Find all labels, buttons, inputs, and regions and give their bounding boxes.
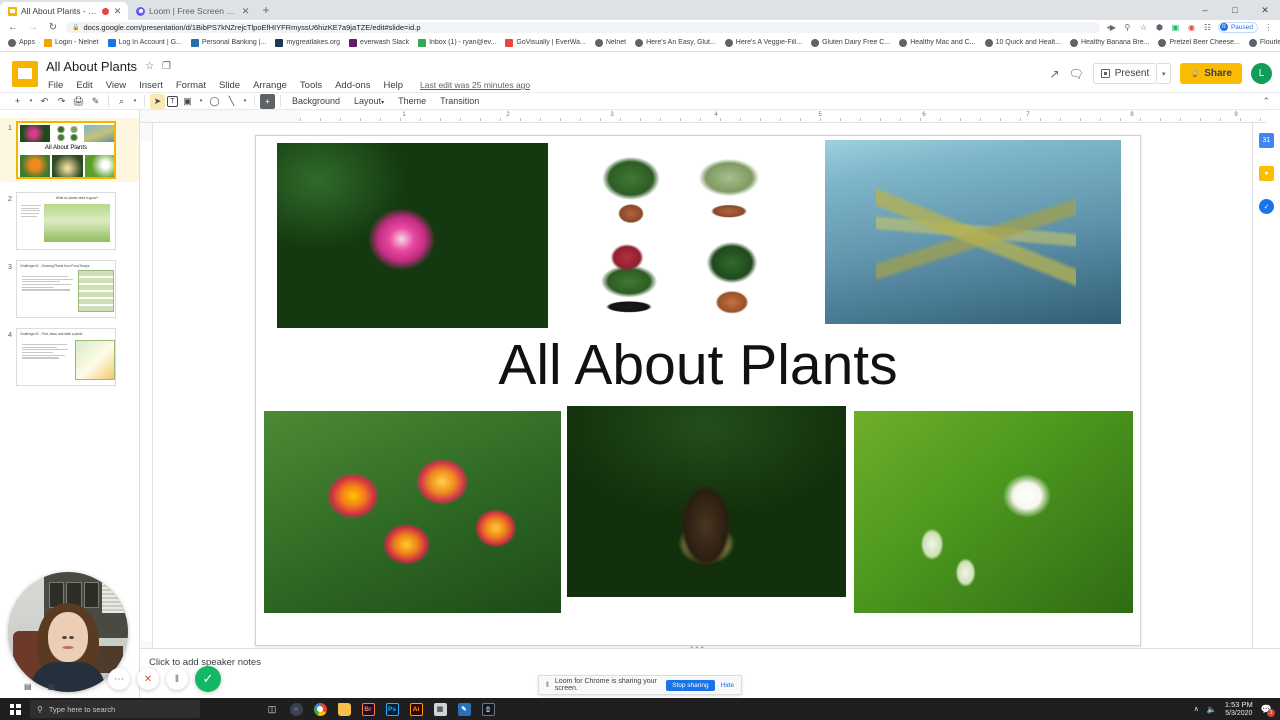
avatar[interactable]: L — [1251, 63, 1272, 84]
taskbar-search-input[interactable]: ⚲ Type here to search — [30, 700, 200, 718]
bookmark-item[interactable]: Healthy Banana Bre... — [1066, 37, 1154, 49]
bookmark-label: 10 Quick and Healt... — [996, 39, 1061, 46]
ruler-tick — [880, 118, 881, 121]
bookmark-label: Flourless Peanut Bu... — [1260, 39, 1280, 46]
grammarly-icon[interactable]: ◉ — [1186, 23, 1197, 32]
start-button[interactable] — [2, 698, 28, 720]
toolbar-divider — [144, 95, 145, 107]
browser-tab-loom[interactable]: Loom | Free Screen & Video Rec ✕ — [128, 2, 256, 20]
grid-icon[interactable]: ▦ — [48, 682, 56, 691]
ruler-tick — [920, 118, 921, 121]
bank-icon — [108, 39, 116, 47]
editor-canvas-area: 123456789 — [140, 110, 1280, 698]
document-title-row: All About Plants ☆ ❐ — [46, 57, 1049, 76]
text-line — [22, 284, 71, 285]
address-bar[interactable]: 🔒 docs.google.com/presentation/d/1BibPS7… — [66, 22, 1100, 33]
bookmark-item[interactable]: Log In Account | G... — [104, 37, 186, 49]
browser-tabstrip: All About Plants - Google Sl ✕ Loom | Fr… — [0, 0, 1280, 20]
ruler-tick — [1060, 118, 1061, 121]
file-explorer-icon[interactable] — [332, 698, 356, 720]
theme-button[interactable]: Theme — [392, 96, 432, 106]
menu-tools[interactable]: Tools — [298, 79, 324, 92]
ruler-mark: 4 — [714, 112, 717, 118]
select-tool-icon[interactable]: ➤ — [150, 94, 165, 109]
bookmark-label: Apps — [19, 39, 35, 46]
thumbnail-content: What do plants need to grow? — [20, 196, 112, 246]
blossom-thumb-icon — [85, 155, 115, 177]
adobe-bridge-icon[interactable]: Br — [356, 698, 380, 720]
menu-view[interactable]: View — [104, 79, 128, 92]
pink-desert-rose-flower-image[interactable] — [277, 143, 548, 328]
bookmark-label: mygreatlakes.org — [286, 39, 340, 46]
pink-flower-thumb-icon — [20, 125, 50, 142]
comment-icon[interactable]: 🗨 — [1069, 67, 1084, 81]
seedlings-thumb-icon — [44, 204, 110, 242]
lock-icon: 🔒 — [72, 24, 79, 31]
plant-dot-icon — [69, 126, 79, 133]
minimize-button[interactable]: – — [1190, 0, 1220, 20]
houseplant-pot-4-icon — [684, 230, 780, 316]
ruler-tick — [500, 118, 501, 121]
finish-recording-button[interactable]: ✓ — [195, 666, 221, 692]
bookmark-label: Personal Banking |... — [202, 39, 266, 46]
eye-right — [69, 636, 74, 639]
text-line — [22, 347, 57, 348]
browser-toolbar: ← → ↻ 🔒 docs.google.com/presentation/d/1… — [0, 20, 1280, 34]
reload-icon[interactable]: ↻ — [46, 22, 60, 33]
recording-dot-icon — [102, 8, 109, 15]
tab-close-icon[interactable]: ✕ — [113, 7, 122, 16]
notification-center-icon[interactable]: 💬 1 — [1261, 704, 1272, 715]
undo-icon[interactable]: ↶ — [37, 94, 52, 109]
new-tab-button[interactable]: + — [256, 2, 276, 20]
text-line — [22, 352, 53, 353]
text-line — [21, 213, 39, 214]
menu-bar: FileEditViewInsertFormatSlideArrangeTool… — [46, 77, 1049, 93]
extension-paused-badge[interactable]: R Paused — [1218, 22, 1258, 33]
notification-count-badge: 1 — [1267, 709, 1275, 717]
greatlakes-icon — [275, 39, 283, 47]
google-apps-side-rail: 31 ● ✓ — [1252, 123, 1280, 698]
bookmark-label: GoVisually | EverWa... — [516, 39, 586, 46]
globe-icon — [635, 39, 643, 47]
screen: All About Plants - Google Sl ✕ Loom | Fr… — [0, 0, 1280, 720]
ruler-tick — [320, 118, 321, 121]
text-line — [22, 279, 73, 280]
text-line — [22, 289, 70, 290]
bookmark-item[interactable]: Here's A Veggie-Fill... — [721, 37, 806, 49]
layout-icon[interactable]: ▤ — [24, 682, 32, 691]
ruler-tick — [340, 118, 341, 121]
screen-sharing-bar: ‖ Loom for Chrome is sharing your screen… — [538, 675, 742, 695]
google-calendar-icon[interactable]: 31 — [1259, 133, 1274, 148]
windows-logo-icon — [10, 704, 21, 715]
ruler-tick — [720, 118, 721, 121]
google-tasks-icon[interactable]: ✓ — [1259, 199, 1274, 214]
ruler-tick — [1120, 118, 1121, 121]
thumbnail-number: 4 — [2, 328, 16, 339]
loom-extension-icon[interactable]: ▣ — [1170, 23, 1181, 32]
bookmark-item[interactable]: Here's An Easy, Glut... — [631, 37, 720, 49]
bookmark-item[interactable]: Pretzel Beer Cheese... — [1154, 37, 1243, 49]
plant-dot-icon — [56, 134, 66, 141]
white-cherry-blossom-image[interactable] — [854, 411, 1133, 613]
speaker-notes-placeholder: Click to add speaker notes — [149, 657, 1280, 668]
chrome-menu-icon[interactable]: ⋮ — [1263, 23, 1274, 32]
activity-dashboard-icon[interactable]: ↗ — [1049, 67, 1059, 81]
cancel-recording-button[interactable]: ✕ — [137, 668, 159, 690]
toolbar-divider — [108, 95, 109, 107]
nelnet-icon — [44, 39, 52, 47]
document-title[interactable]: All About Plants — [46, 59, 137, 74]
star-icon[interactable]: ☆ — [145, 61, 154, 72]
present-dropdown-caret[interactable]: ▾ — [1157, 63, 1171, 84]
bookmarks-bar: AppsLogin - NelnetLog In Account | G...P… — [0, 34, 1280, 52]
chrome-icon[interactable] — [308, 698, 332, 720]
lock-icon: 🔒 — [1190, 69, 1200, 78]
text-line — [22, 344, 67, 345]
menu-edit[interactable]: Edit — [74, 79, 94, 92]
chrome-glyph-icon — [314, 703, 327, 716]
bookmark-label: Healthy Banana Bre... — [1081, 39, 1150, 46]
ruler-tick — [540, 118, 541, 121]
present-label: Present — [1115, 68, 1149, 79]
tab-close-icon[interactable]: ✕ — [241, 7, 250, 16]
kelp-frond-icon — [876, 156, 1076, 316]
ruler-tick — [980, 118, 981, 121]
ruler-mark: 2 — [506, 112, 509, 118]
kelp-thumb-icon — [84, 125, 115, 142]
bookmark-label: Healthy Mac and C... — [910, 39, 975, 46]
paint-format-icon[interactable]: ✎ — [88, 94, 103, 109]
more-options-button[interactable]: ⋯ — [108, 668, 130, 690]
ruler-mark: 7 — [1026, 112, 1029, 118]
windows-taskbar: ⚲ Type here to search ◫ ○ Br Ps Ai ▤ ✎ ▯… — [0, 698, 1280, 720]
address-bar-url: docs.google.com/presentation/d/1BibPS7kN… — [83, 23, 420, 32]
move-to-folder-icon[interactable]: ❐ — [162, 61, 171, 72]
layout-caret-icon: ▾ — [381, 100, 384, 106]
thumbnail-content: Challenge #2 - Find, draw, and label a p… — [20, 332, 112, 382]
thumbnail-title: All About Plants — [18, 145, 114, 151]
text-line — [22, 357, 59, 358]
ruler-tick — [940, 118, 941, 121]
task-view-icon[interactable]: ◫ — [260, 698, 284, 720]
thumbnail-canvas: All About Plants — [16, 121, 116, 179]
loom-mini-icons: ▤ ▦ — [24, 682, 55, 691]
google-keep-icon[interactable]: ● — [1259, 166, 1274, 181]
video-camera-icon[interactable]: ▪▶ — [1106, 23, 1117, 32]
ruler-tick — [700, 118, 701, 121]
thumbnail-number: 1 — [2, 121, 16, 132]
add-comment-icon[interactable]: + — [260, 94, 275, 109]
thumbnail-slide-1[interactable]: 1 All About Plants — [0, 118, 139, 182]
ruler-tick — [420, 118, 421, 121]
menu-add-ons[interactable]: Add-ons — [333, 79, 372, 92]
bookmark-label: Pretzel Beer Cheese... — [1169, 39, 1239, 46]
text-line — [22, 349, 68, 350]
tree-thumb-icon — [52, 155, 83, 177]
layout-label: Layout — [354, 96, 381, 106]
thumbnail-canvas: Challenge #1 - Growing Plants from Food … — [16, 260, 116, 318]
ruler-tick — [840, 118, 841, 121]
window-controls: – □ ✕ — [1190, 0, 1280, 20]
mouth — [63, 646, 74, 649]
loom-recording-controls: ⋯ ✕ ‖ ✓ — [108, 666, 221, 692]
houseplant-pot-3-icon — [581, 232, 677, 317]
present-icon — [1101, 69, 1110, 78]
food-scraps-chart-icon — [78, 270, 114, 312]
ruler-tick — [1020, 118, 1021, 121]
extension-avatar: R — [1220, 23, 1228, 31]
ruler-mark: 1 — [402, 112, 405, 118]
text-line — [22, 355, 65, 356]
globe-icon — [1158, 39, 1166, 47]
houseplant-pot-2-icon — [681, 144, 781, 224]
share-label: Share — [1204, 68, 1232, 79]
search-placeholder: Type here to search — [49, 705, 115, 714]
orange-alstroemeria-flowers-image[interactable] — [264, 411, 561, 613]
thumbnail-bullets — [21, 205, 41, 218]
thumbnail-canvas: What do plants need to grow? — [16, 192, 116, 250]
transition-button[interactable]: Transition — [434, 96, 485, 106]
ruler-tick — [300, 118, 301, 121]
ruler-tick — [660, 118, 661, 121]
menu-help[interactable]: Help — [381, 79, 405, 92]
menu-format[interactable]: Format — [174, 79, 208, 92]
thumbnail-number: 3 — [2, 260, 16, 271]
apps-grid-icon — [8, 39, 16, 47]
bookmark-label: Nelnet — [606, 39, 626, 46]
ruler-tick — [360, 118, 361, 121]
taskbar-clock[interactable]: 1:53 PM 5/3/2020 — [1225, 700, 1253, 718]
textbox-icon[interactable]: T — [167, 96, 178, 107]
paint-icon[interactable]: ✎ — [452, 698, 476, 720]
thumbnail-content: All About Plants — [18, 123, 114, 177]
line-caret-icon[interactable]: ▾ — [241, 98, 249, 104]
camera-glyph-icon: ▯ — [482, 703, 495, 716]
back-icon[interactable]: ← — [6, 22, 20, 33]
ruler-track — [141, 141, 152, 641]
bookmark-item[interactable]: mygreatlakes.org — [271, 37, 344, 49]
bookmark-label: Login - Nelnet — [55, 39, 99, 46]
redo-icon[interactable]: ↷ — [54, 94, 69, 109]
background-button[interactable]: Background — [286, 96, 346, 106]
globe-icon — [899, 39, 907, 47]
thumbnail-slide-3[interactable]: 3 Challenge #1 - Growing Plants from Foo… — [0, 260, 139, 318]
bookmark-label: everwash Slack — [360, 39, 409, 46]
present-button[interactable]: Present — [1093, 63, 1157, 84]
thumbnail-slide-2[interactable]: 2 What do plants need to grow? — [0, 192, 139, 250]
cortana-icon[interactable]: ○ — [284, 698, 308, 720]
extension-paused-label: Paused — [1231, 24, 1253, 31]
globe-icon — [725, 39, 733, 47]
image-caret-icon[interactable]: ▾ — [197, 98, 205, 104]
bookmark-item[interactable]: GoVisually | EverWa... — [501, 37, 590, 49]
text-line — [22, 281, 60, 282]
clock-date: 5/3/2020 — [1225, 709, 1253, 718]
forward-icon[interactable]: → — [26, 22, 40, 33]
toolbar-divider — [254, 95, 255, 107]
last-edit-label[interactable]: Last edit was 25 minutes ago — [420, 80, 530, 90]
sharing-message: Loom for Chrome is sharing your screen. — [555, 678, 660, 692]
pause-icon: ‖ — [546, 682, 549, 689]
maximize-button[interactable]: □ — [1220, 0, 1250, 20]
toolbar-divider — [280, 95, 281, 107]
bookmark-item[interactable]: 10 Quick and Healt... — [981, 37, 1065, 49]
tray-expand-icon[interactable]: ∧ — [1194, 705, 1199, 713]
tab-title: All About Plants - Google Sl — [21, 6, 98, 16]
text-line — [21, 205, 41, 206]
line-icon[interactable]: ╲ — [224, 94, 239, 109]
ruler-tick — [960, 118, 961, 121]
ruler-tick — [640, 118, 641, 121]
share-button[interactable]: 🔒 Share — [1180, 63, 1242, 84]
insert-image-icon[interactable]: ▣ — [180, 94, 195, 109]
plant-dot-icon — [69, 134, 79, 141]
thumbnail-heading: Challenge #2 - Find, draw, and label a p… — [20, 332, 112, 336]
bookmark-label: Here's A Veggie-Fill... — [736, 39, 802, 46]
apps-grid-icon[interactable]: ☷ — [1202, 23, 1213, 32]
google-slides-app: All About Plants ☆ ❐ FileEditViewInsertF… — [0, 52, 1280, 698]
ruler-mark: 9 — [1234, 112, 1237, 118]
ruler-tick — [480, 118, 481, 121]
folder-glyph-icon — [338, 703, 351, 716]
text-line — [22, 276, 68, 277]
orange-flowers-thumb-icon — [20, 155, 50, 177]
person-face — [48, 612, 88, 662]
volume-icon[interactable]: 🔈 — [1207, 705, 1217, 714]
globe-icon — [1070, 39, 1078, 47]
bookmark-item[interactable]: Inbox (1) - ryan@ev... — [414, 37, 500, 49]
ruler-tick — [740, 118, 741, 121]
ruler-tick — [1000, 118, 1001, 121]
parts-of-plant-diagram-icon — [75, 340, 115, 380]
bookmark-item[interactable]: Healthy Mac and C... — [895, 37, 979, 49]
menu-arrange[interactable]: Arrange — [251, 79, 289, 92]
close-window-button[interactable]: ✕ — [1250, 0, 1280, 20]
globe-icon — [811, 39, 819, 47]
search-icon: ⚲ — [37, 705, 43, 714]
bookmark-item[interactable]: Personal Banking |... — [187, 37, 270, 49]
bookmark-item[interactable]: Nelnet — [591, 37, 630, 49]
slides-logo-icon — [12, 61, 38, 87]
ruler-tick — [780, 118, 781, 121]
camera-icon[interactable]: ▯ — [476, 698, 500, 720]
layout-button[interactable]: Layout▾ — [348, 96, 390, 106]
browser-toolbar-actions: ▪▶ ⚲ ☆ ⬢ ▣ ◉ ☷ R Paused ⋮ — [1106, 22, 1274, 33]
vertical-ruler — [140, 123, 153, 698]
ruler-mark: 6 — [922, 112, 925, 118]
thumbnail-heading: What do plants need to grow? — [42, 196, 112, 200]
bookmark-item[interactable]: everwash Slack — [345, 37, 413, 49]
zoom-icon[interactable]: ⌕ — [114, 94, 129, 109]
thumbnail-heading: Challenge #1 - Growing Plants from Food … — [20, 264, 112, 268]
new-slide-button[interactable]: + — [10, 94, 25, 109]
ruler-tick — [900, 118, 901, 121]
globe-icon — [985, 39, 993, 47]
zoom-caret-icon[interactable]: ▾ — [131, 98, 139, 104]
gmail-icon — [418, 39, 426, 47]
ruler-tick — [760, 118, 761, 121]
ruler-tick — [620, 118, 621, 121]
clock-time: 1:53 PM — [1225, 700, 1253, 709]
ruler-tick — [1080, 118, 1081, 121]
menu-file[interactable]: File — [46, 79, 65, 92]
puzzle-extension-icon[interactable]: ⬢ — [1154, 23, 1165, 32]
horizontal-ruler: 123456789 — [140, 110, 1266, 123]
hide-sharing-bar-button[interactable]: Hide — [721, 682, 734, 689]
text-line — [22, 287, 54, 288]
ruler-tick — [1180, 118, 1181, 121]
thumbnail-number: 2 — [2, 192, 16, 203]
adobe-illustrator-icon[interactable]: Ai — [404, 698, 428, 720]
browser-tab-active[interactable]: All About Plants - Google Sl ✕ — [0, 2, 128, 20]
bookmark-item[interactable]: Gluten Dairy Free C... — [807, 37, 894, 49]
paint-glyph-icon: ✎ — [458, 703, 471, 716]
bookmark-label: Log In Account | G... — [119, 39, 182, 46]
new-slide-caret-icon[interactable]: ▾ — [27, 98, 35, 104]
loom-favicon-icon — [136, 7, 145, 16]
system-tray: ∧ 🔈 1:53 PM 5/3/2020 💬 1 — [1194, 700, 1278, 718]
document-meta: All About Plants ☆ ❐ FileEditViewInsertF… — [46, 57, 1049, 93]
pause-recording-button[interactable]: ‖ — [166, 668, 188, 690]
eye-left — [62, 636, 67, 639]
slide-title[interactable]: All About Plants — [256, 332, 1140, 398]
adobe-photoshop-icon[interactable]: Ps — [380, 698, 404, 720]
print-icon[interactable]: 🖨 — [71, 94, 86, 109]
star-icon[interactable]: ☆ — [1138, 23, 1149, 32]
bookmark-label: Gluten Dairy Free C... — [822, 39, 890, 46]
ruler-tick — [1200, 118, 1201, 121]
globe-icon — [595, 39, 603, 47]
ruler-tick — [800, 118, 801, 121]
bookmark-item[interactable]: Flourless Peanut Bu... — [1245, 37, 1280, 49]
window-blinds — [102, 579, 126, 613]
bookmark-item[interactable]: Login - Nelnet — [40, 37, 103, 49]
ruler-tick — [460, 118, 461, 121]
slide-canvas[interactable]: All About Plants ••• — [255, 135, 1141, 646]
thumbnail-slide-4[interactable]: 4 Challenge #2 - Find, draw, and label a… — [0, 328, 139, 386]
shape-icon[interactable]: ◯ — [207, 94, 222, 109]
ruler-tick — [400, 118, 401, 121]
header-actions: ↗ 🗨 Present ▾ 🔒 Share L — [1049, 57, 1272, 84]
stop-sharing-button[interactable]: Stop sharing — [666, 680, 715, 691]
slides-toolbar: + ▾ ↶ ↷ 🖨 ✎ ⌕ ▾ ➤ T ▣ ▾ ◯ ╲ ▾ + Backgrou… — [0, 92, 1280, 110]
bookmark-label: Inbox (1) - ryan@ev... — [429, 39, 496, 46]
bookmark-item[interactable]: Apps — [4, 37, 39, 49]
houseplant-pot-1-icon — [586, 148, 676, 228]
menu-slide[interactable]: Slide — [217, 79, 242, 92]
collapse-toolbar-icon[interactable]: ⌃ — [1262, 96, 1270, 107]
zoom-icon[interactable]: ⚲ — [1122, 23, 1133, 32]
ruler-tick — [580, 118, 581, 121]
menu-insert[interactable]: Insert — [137, 79, 165, 92]
ruler-tick — [1240, 118, 1241, 121]
calculator-icon[interactable]: ▤ — [428, 698, 452, 720]
govisually-icon — [505, 39, 513, 47]
ruler-tick — [680, 118, 681, 121]
slack-icon — [349, 39, 357, 47]
photoshop-glyph-icon: Ps — [386, 703, 399, 716]
ruler-tick — [1260, 118, 1261, 121]
ruler-tick — [1040, 118, 1041, 121]
illustrator-glyph-icon: Ai — [410, 703, 423, 716]
text-line — [21, 216, 37, 217]
picture-frame — [84, 582, 99, 608]
ruler-tick — [820, 118, 821, 121]
slides-header: All About Plants ☆ ❐ FileEditViewInsertF… — [0, 52, 1280, 92]
ruler-tick — [520, 118, 521, 121]
